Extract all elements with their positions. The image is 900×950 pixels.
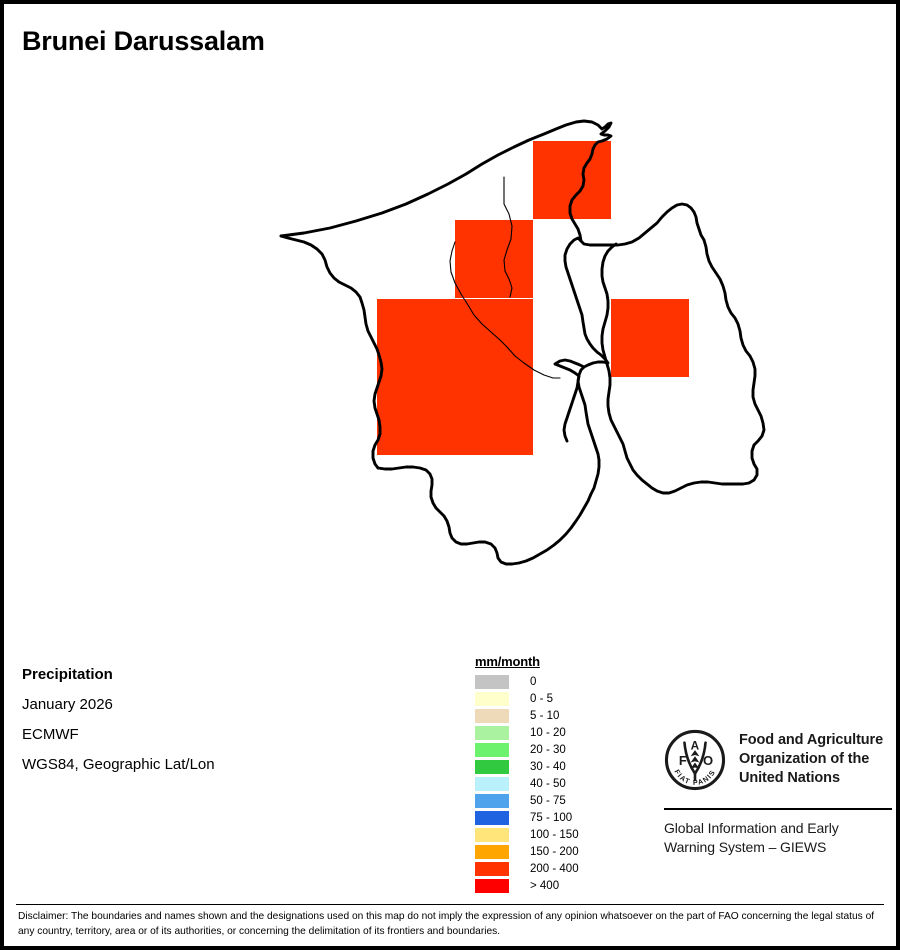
legend-label: 30 - 40 bbox=[530, 761, 566, 773]
fao-organization-name: Food and Agriculture Organization of the… bbox=[739, 729, 883, 788]
raster-cell-north bbox=[533, 141, 611, 219]
legend-title: mm/month bbox=[475, 654, 620, 669]
legend-label: 75 - 100 bbox=[530, 812, 572, 824]
legend-label: 20 - 30 bbox=[530, 744, 566, 756]
legend-label: 150 - 200 bbox=[530, 846, 579, 858]
raster-cell-east bbox=[611, 299, 689, 377]
info-source: ECMWF bbox=[22, 720, 352, 750]
fao-logo-icon: F A O FIAT PANIS bbox=[664, 729, 726, 796]
legend-swatch bbox=[475, 743, 509, 757]
legend-label: 10 - 20 bbox=[530, 727, 566, 739]
fao-org-line-3: United Nations bbox=[739, 769, 883, 788]
info-variable: Precipitation bbox=[22, 660, 352, 690]
legend-swatch bbox=[475, 726, 509, 740]
fao-org-line-1: Food and Agriculture bbox=[739, 731, 883, 750]
map-canvas[interactable] bbox=[4, 64, 896, 644]
map-page: Brunei Darussalam bbox=[0, 0, 900, 950]
legend-row: 30 - 40 bbox=[470, 758, 620, 775]
legend-row: 100 - 150 bbox=[470, 826, 620, 843]
giews-line-1: Global Information and Early bbox=[664, 819, 892, 838]
legend-swatch bbox=[475, 794, 509, 808]
fao-letter-a: A bbox=[691, 739, 700, 752]
info-projection: WGS84, Geographic Lat/Lon bbox=[22, 750, 352, 780]
legend-label: 0 - 5 bbox=[530, 693, 553, 705]
legend-rows: 00 - 55 - 1010 - 2020 - 3030 - 4040 - 50… bbox=[470, 673, 620, 894]
legend-swatch bbox=[475, 760, 509, 774]
legend-label: 50 - 75 bbox=[530, 795, 566, 807]
map-legend: mm/month 00 - 55 - 1010 - 2020 - 3030 - … bbox=[470, 654, 620, 894]
legend-swatch bbox=[475, 777, 509, 791]
fao-org-line-2: Organization of the bbox=[739, 750, 883, 769]
legend-label: 0 bbox=[530, 676, 536, 688]
legend-label: 200 - 400 bbox=[530, 863, 579, 875]
disclaimer-text: Disclaimer: The boundaries and names sho… bbox=[18, 909, 884, 939]
legend-swatch bbox=[475, 862, 509, 876]
legend-row: 20 - 30 bbox=[470, 741, 620, 758]
legend-row: > 400 bbox=[470, 877, 620, 894]
legend-swatch bbox=[475, 709, 509, 723]
giews-line-2: Warning System – GIEWS bbox=[664, 838, 892, 857]
info-period: January 2026 bbox=[22, 690, 352, 720]
legend-row: 10 - 20 bbox=[470, 724, 620, 741]
giews-programme-name: Global Information and Early Warning Sys… bbox=[664, 819, 892, 857]
legend-row: 0 bbox=[470, 673, 620, 690]
fao-letter-o: O bbox=[703, 753, 713, 768]
legend-row: 200 - 400 bbox=[470, 860, 620, 877]
map-info-block: Precipitation January 2026 ECMWF WGS84, … bbox=[22, 660, 352, 780]
legend-label: > 400 bbox=[530, 880, 559, 892]
legend-row: 75 - 100 bbox=[470, 809, 620, 826]
raster-cell-main bbox=[377, 299, 533, 455]
legend-row: 5 - 10 bbox=[470, 707, 620, 724]
legend-swatch bbox=[475, 828, 509, 842]
disclaimer-divider bbox=[16, 904, 884, 905]
legend-label: 40 - 50 bbox=[530, 778, 566, 790]
legend-label: 5 - 10 bbox=[530, 710, 559, 722]
fao-letter-f: F bbox=[679, 753, 687, 768]
legend-row: 40 - 50 bbox=[470, 775, 620, 792]
legend-swatch bbox=[475, 845, 509, 859]
legend-row: 50 - 75 bbox=[470, 792, 620, 809]
legend-row: 0 - 5 bbox=[470, 690, 620, 707]
legend-swatch bbox=[475, 811, 509, 825]
precipitation-raster bbox=[377, 141, 689, 455]
legend-label: 100 - 150 bbox=[530, 829, 579, 841]
legend-row: 150 - 200 bbox=[470, 843, 620, 860]
legend-swatch bbox=[475, 692, 509, 706]
fao-divider bbox=[664, 808, 892, 810]
raster-cell-middle bbox=[455, 220, 533, 298]
legend-swatch bbox=[475, 675, 509, 689]
fao-branding: F A O FIAT PANIS Food and Agriculture Or… bbox=[664, 729, 892, 857]
page-title: Brunei Darussalam bbox=[22, 26, 265, 57]
legend-swatch bbox=[475, 879, 509, 893]
